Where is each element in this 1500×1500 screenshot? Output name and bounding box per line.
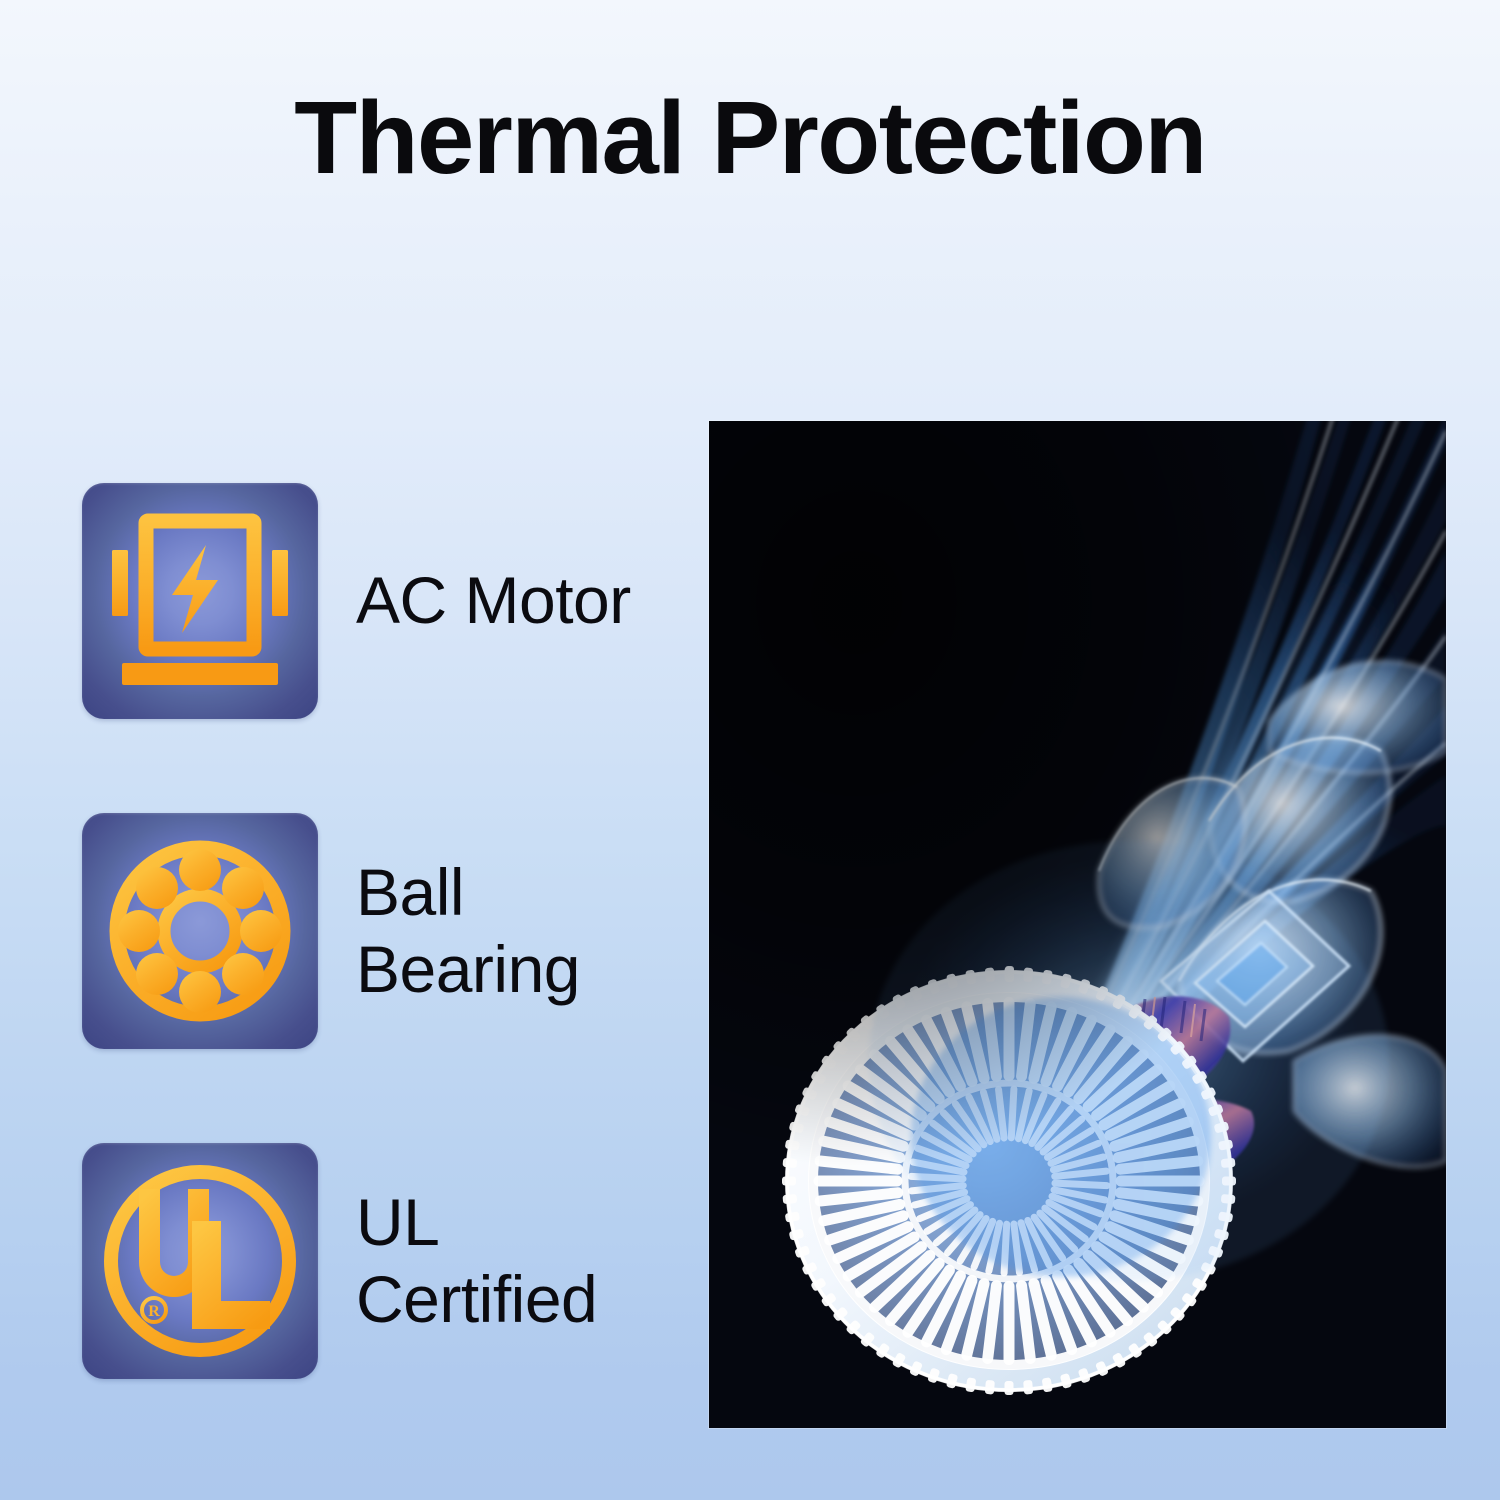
ball-bearing-icon-tile bbox=[82, 813, 318, 1049]
ul-certified-icon-tile: R bbox=[82, 1143, 318, 1379]
feature-label-ball-bearing: Ball Bearing bbox=[356, 854, 580, 1008]
feature-label-ul-certified: UL Certified bbox=[356, 1184, 597, 1338]
infographic-page: Thermal Protection bbox=[0, 0, 1500, 1500]
ul-certified-icon: R bbox=[82, 1143, 318, 1379]
feature-list: AC Motor bbox=[82, 483, 682, 1379]
feature-item-ul-certified: R UL Certified bbox=[82, 1143, 682, 1379]
svg-text:R: R bbox=[148, 1303, 160, 1320]
page-title: Thermal Protection bbox=[0, 82, 1500, 193]
ball-bearing-icon bbox=[82, 813, 318, 1049]
photo-vignette bbox=[709, 421, 1446, 1428]
feature-label-ac-motor: AC Motor bbox=[356, 562, 631, 639]
ac-motor-icon bbox=[82, 483, 318, 719]
feature-item-ac-motor: AC Motor bbox=[82, 483, 682, 719]
ac-motor-icon-tile bbox=[82, 483, 318, 719]
fan-motor-cutaway-photo bbox=[709, 421, 1446, 1428]
feature-item-ball-bearing: Ball Bearing bbox=[82, 813, 682, 1049]
